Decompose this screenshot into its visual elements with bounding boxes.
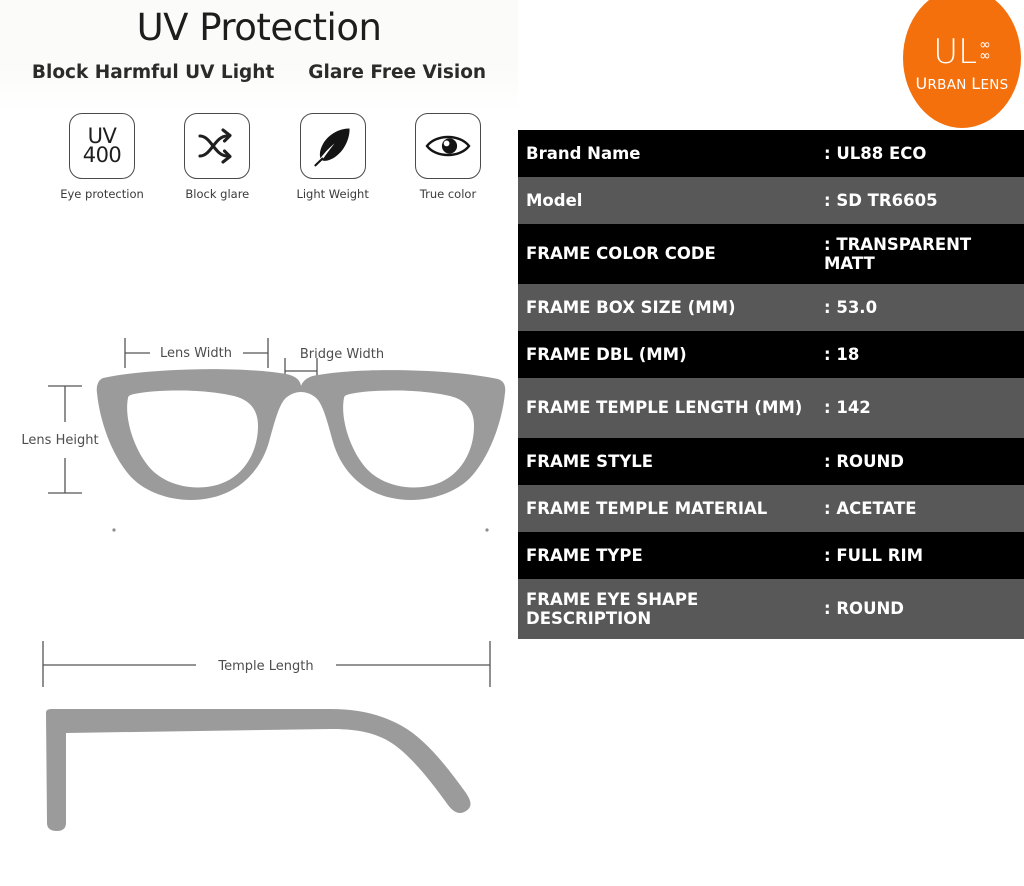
spec-row: FRAME BOX SIZE (MM): 53.0 <box>518 284 1024 331</box>
label-bridge-width: Bridge Width <box>300 347 384 362</box>
uv400-icon: UV 400 <box>69 113 135 179</box>
label-lens-width: Lens Width <box>160 346 232 361</box>
spec-row: FRAME COLOR CODE: TRANSPARENT MATT <box>518 224 1024 284</box>
feature-caption-block-glare: Block glare <box>185 187 249 201</box>
feature-caption-light-weight: Light Weight <box>296 187 368 201</box>
feature-caption-true-color: True color <box>420 187 476 201</box>
spec-value: : FULL RIM <box>824 546 1024 565</box>
logo-wordmark: URBAN LENS <box>915 74 1008 93</box>
spec-label: FRAME STYLE <box>526 452 824 471</box>
uv-protection-banner: UV Protection Block Harmful UV Light Gla… <box>0 0 518 112</box>
product-spec-sheet: UV Protection Block Harmful UV Light Gla… <box>0 0 1024 886</box>
frame-specification-table: Brand Name: UL88 ECOModel: SD TR6605FRAM… <box>518 130 1024 639</box>
spec-label: FRAME COLOR CODE <box>526 244 824 263</box>
spec-value: : 53.0 <box>824 298 1024 317</box>
spec-value: : ROUND <box>824 452 1024 471</box>
uv400-icon-bottom: 400 <box>83 146 122 165</box>
spec-value: : UL88 ECO <box>824 144 1024 163</box>
subheading-block-uv: Block Harmful UV Light <box>32 62 274 83</box>
logo-infinity-icon-bottom: ∞ <box>979 51 991 62</box>
feather-icon <box>300 113 366 179</box>
spec-label: FRAME TYPE <box>526 546 824 565</box>
uv-protection-subheadings: Block Harmful UV Light Glare Free Vision <box>0 62 518 83</box>
subheading-glare-free: Glare Free Vision <box>308 62 486 83</box>
spec-label: Brand Name <box>526 144 824 163</box>
spec-value: : ACETATE <box>824 499 1024 518</box>
spec-row: FRAME EYE SHAPE DESCRIPTION: ROUND <box>518 579 1024 639</box>
spec-value: : SD TR6605 <box>824 191 1024 210</box>
spec-value: : TRANSPARENT MATT <box>824 235 1024 274</box>
logo-infinity-icon: ∞ ∞ <box>979 40 991 62</box>
spec-value: : 18 <box>824 345 1024 364</box>
feature-light-weight: Light Weight <box>283 113 383 201</box>
logo-initials: UL <box>933 35 977 69</box>
spec-label: FRAME BOX SIZE (MM) <box>526 298 824 317</box>
label-temple-length: Temple Length <box>217 659 313 674</box>
spec-row: Model: SD TR6605 <box>518 177 1024 224</box>
feature-icon-row: UV 400 Eye protection <box>52 113 498 201</box>
spec-row: FRAME STYLE: ROUND <box>518 438 1024 485</box>
spec-row: FRAME TYPE: FULL RIM <box>518 532 1024 579</box>
feature-caption-eye-protection: Eye protection <box>60 187 144 201</box>
urban-lens-logo: UL ∞ ∞ URBAN LENS <box>903 0 1021 128</box>
spec-value: : ROUND <box>824 599 1024 618</box>
logo-content: UL ∞ ∞ URBAN LENS <box>903 0 1021 128</box>
promo-panel: UV Protection Block Harmful UV Light Gla… <box>0 0 518 886</box>
eye-icon <box>415 113 481 179</box>
spec-label: Model <box>526 191 824 210</box>
spec-value: : 142 <box>824 398 1024 417</box>
spec-row: FRAME TEMPLE LENGTH (MM): 142 <box>518 378 1024 438</box>
label-lens-height: Lens Height <box>21 433 98 448</box>
feature-true-color: True color <box>398 113 498 201</box>
feature-block-glare: Block glare <box>167 113 267 201</box>
eyeglass-frame-front-diagram: Lens Width Bridge Width Lens Height <box>0 318 518 558</box>
spec-label: FRAME EYE SHAPE DESCRIPTION <box>526 590 824 629</box>
spec-label: FRAME TEMPLE LENGTH (MM) <box>526 398 824 417</box>
eyeglass-temple-side-diagram: Temple Length <box>0 625 518 855</box>
spec-label: FRAME DBL (MM) <box>526 345 824 364</box>
spec-row: FRAME DBL (MM): 18 <box>518 331 1024 378</box>
feature-eye-protection: UV 400 Eye protection <box>52 113 152 201</box>
spec-label: FRAME TEMPLE MATERIAL <box>526 499 824 518</box>
shuffle-arrows-icon <box>184 113 250 179</box>
spec-row: Brand Name: UL88 ECO <box>518 130 1024 177</box>
spec-row: FRAME TEMPLE MATERIAL: ACETATE <box>518 485 1024 532</box>
logo-mark: UL ∞ ∞ <box>933 35 991 69</box>
uv-protection-title: UV Protection <box>0 6 518 49</box>
